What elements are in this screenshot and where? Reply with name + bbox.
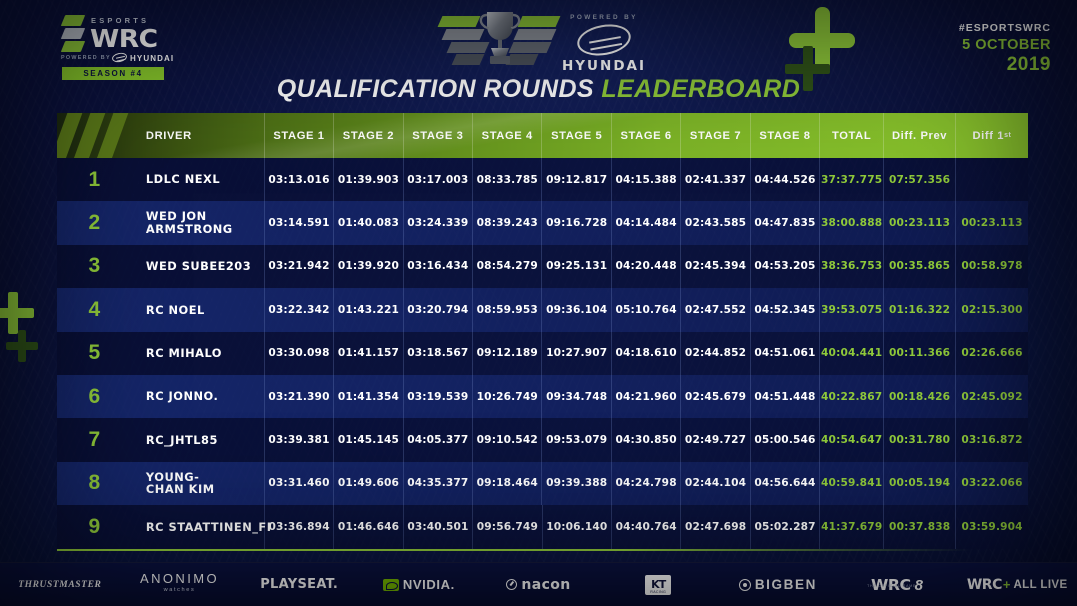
stage-7-time: 02:49.727 <box>681 418 750 461</box>
diff-prev-time: 01:16.322 <box>884 288 956 331</box>
header-bar: ESPORTS WRC POWERED BY HYUNDAI SEASON #4 <box>0 0 1077 108</box>
sponsor-bigben-label: BIGBEN <box>755 577 817 592</box>
hyundai-branding: POWERED BY HYUNDAI <box>556 14 652 68</box>
diff-first-time: 02:26.666 <box>956 332 1028 375</box>
stage-3-time: 03:40.501 <box>404 505 473 548</box>
hyundai-wordmark: HYUNDAI <box>556 58 652 74</box>
diff-prev-time: 07:57.356 <box>884 158 956 201</box>
diff-prev-time: 00:35.865 <box>884 245 956 288</box>
sponsor-all-live-label: ALL LIVE <box>1013 579 1067 591</box>
stage-6-time: 04:15.388 <box>612 158 681 201</box>
stage-5-time: 09:12.817 <box>542 158 611 201</box>
plus-decoration-left-large <box>0 292 34 334</box>
stage-2-time: 01:39.920 <box>334 245 403 288</box>
column-header-stage-2: STAGE 2 <box>334 113 403 158</box>
diff-prev-time: 00:11.366 <box>884 332 956 375</box>
event-date-day: 5 OCTOBER <box>959 37 1051 53</box>
total-time: 38:36.753 <box>820 245 884 288</box>
column-header-diff-prev: Diff. Prev <box>884 113 956 158</box>
stage-6-time: 04:18.610 <box>612 332 681 375</box>
stage-2-time: 01:43.221 <box>334 288 403 331</box>
driver-name: RC_JHTL85 <box>132 418 265 461</box>
stage-6-time: 05:10.764 <box>612 288 681 331</box>
sponsor-playseat: PLAYSEAT. <box>239 577 359 592</box>
sponsor-nvidia-label: NVIDIA. <box>403 577 455 592</box>
stage-5-time: 09:53.079 <box>542 418 611 461</box>
trophy-emblem <box>440 8 560 70</box>
stage-2-time: 01:41.354 <box>334 375 403 418</box>
diff-first-time: 02:15.300 <box>956 288 1028 331</box>
rank-number: 8 <box>57 462 132 505</box>
logo-powered-by-text: POWERED BY <box>61 55 111 61</box>
column-header-stage-3: STAGE 3 <box>404 113 473 158</box>
stage-7-time: 02:47.552 <box>681 288 750 331</box>
table-row: 7RC_JHTL8503:39.38101:45.14504:05.37709:… <box>57 418 1028 461</box>
sponsor-kt-sublabel: RACING <box>645 590 671 594</box>
sponsor-footer: THRUSTMASTER ANONIMO watches PLAYSEAT. N… <box>0 562 1077 606</box>
stage-7-time: 02:44.104 <box>681 462 750 505</box>
sponsor-playseat-label: PLAYSEAT. <box>260 577 338 592</box>
sponsor-thrustmaster: THRUSTMASTER <box>0 580 120 590</box>
stage-1-time: 03:39.381 <box>265 418 334 461</box>
rank-number: 3 <box>57 245 132 288</box>
stage-8-time: 04:47.835 <box>751 201 820 244</box>
sponsor-anonimo: ANONIMO watches <box>120 574 240 595</box>
stage-5-time: 10:06.140 <box>543 505 612 548</box>
stage-4-time: 09:18.464 <box>473 462 542 505</box>
rank-number: 9 <box>57 505 132 548</box>
diff-prev-time: 00:18.426 <box>884 375 956 418</box>
stage-4-time: 08:33.785 <box>473 158 542 201</box>
event-date-year: 2019 <box>959 54 1051 76</box>
hyundai-logo-icon <box>575 21 633 60</box>
stage-1-time: 03:31.460 <box>265 462 334 505</box>
total-time: 37:37.775 <box>820 158 884 201</box>
stage-7-time: 02:47.698 <box>681 505 750 548</box>
sponsor-wrcplus-wordmark: WRC <box>967 577 1002 593</box>
stage-2-time: 01:41.157 <box>334 332 403 375</box>
stage-3-time: 03:18.567 <box>404 332 473 375</box>
sponsor-anonimo-label: ANONIMO <box>140 574 219 584</box>
plus-decoration-left-small <box>6 330 38 362</box>
wrc-chevron-icon <box>63 15 85 57</box>
sponsor-wrcplus-plus: + <box>1003 577 1011 592</box>
stage-5-time: 09:39.388 <box>542 462 611 505</box>
column-header-stage-6: STAGE 6 <box>612 113 681 158</box>
stage-7-time: 02:44.852 <box>681 332 750 375</box>
rank-number: 1 <box>57 158 132 201</box>
table-row: 3WED SUBEE20303:21.94201:39.92003:16.434… <box>57 245 1028 288</box>
table-bottom-accent-line <box>57 549 971 551</box>
stage-3-time: 03:20.794 <box>404 288 473 331</box>
sponsor-bigben: BIGBEN <box>718 577 838 592</box>
rank-number: 2 <box>57 201 132 244</box>
leaderboard-table: DRIVER STAGE 1 STAGE 2 STAGE 3 STAGE 4 S… <box>57 113 1028 551</box>
table-body: 1LDLC NEXL03:13.01601:39.90303:17.00308:… <box>57 158 1028 549</box>
kt-racing-logo-icon: KT RACING <box>645 575 671 595</box>
stage-1-time: 03:14.591 <box>265 201 334 244</box>
stage-6-time: 04:40.764 <box>612 505 681 548</box>
stage-2-time: 01:49.606 <box>334 462 403 505</box>
stage-2-time: 01:46.646 <box>334 505 403 548</box>
table-row: 6RC JONNO.03:21.39001:41.35403:19.53910:… <box>57 375 1028 418</box>
page-title: QUALIFICATION ROUNDS LEADERBOARD <box>0 75 1077 104</box>
diff-prev-time: 00:23.113 <box>884 201 956 244</box>
column-header-diff-first-label: Diff 1 <box>972 130 1004 142</box>
stage-1-time: 03:22.342 <box>265 288 334 331</box>
total-time: 40:54.647 <box>820 418 884 461</box>
diff-first-time: 00:58.978 <box>956 245 1028 288</box>
stage-8-time: 05:02.287 <box>751 505 820 548</box>
stage-6-time: 04:30.850 <box>612 418 681 461</box>
stage-2-time: 01:40.083 <box>334 201 403 244</box>
stage-2-time: 01:39.903 <box>334 158 403 201</box>
stage-4-time: 09:10.542 <box>473 418 542 461</box>
sponsor-wrc8: WRC 8 THE OFFICIAL GAME <box>838 576 958 594</box>
nacon-circle-icon <box>506 579 517 590</box>
ordinal-suffix: st <box>1004 132 1011 139</box>
bigben-circle-icon <box>739 579 751 591</box>
column-header-stage-8: STAGE 8 <box>751 113 820 158</box>
stage-6-time: 04:20.448 <box>612 245 681 288</box>
esports-wrc-logo: ESPORTS WRC POWERED BY HYUNDAI SEASON #4 <box>57 12 165 80</box>
diff-prev-time: 00:37.838 <box>884 505 956 548</box>
table-row: 9RC STAATTINEN_FI03:36.89401:46.64603:40… <box>57 505 1028 548</box>
table-row: 2WED JONARMSTRONG03:14.59101:40.08303:24… <box>57 201 1028 244</box>
table-row: 4RC NOEL03:22.34201:43.22103:20.79408:59… <box>57 288 1028 331</box>
table-header-row: DRIVER STAGE 1 STAGE 2 STAGE 3 STAGE 4 S… <box>57 113 1028 158</box>
powered-by-label: POWERED BY <box>556 14 652 21</box>
sponsor-thrustmaster-label: THRUSTMASTER <box>18 580 101 590</box>
sponsor-wrc8-tagline: THE OFFICIAL GAME <box>867 584 916 588</box>
stage-4-time: 09:56.749 <box>473 505 542 548</box>
column-header-stage-4: STAGE 4 <box>473 113 542 158</box>
diff-first-time: 03:22.066 <box>956 462 1028 505</box>
rank-number: 5 <box>57 332 132 375</box>
column-header-stage-5: STAGE 5 <box>542 113 611 158</box>
driver-name: RC JONNO. <box>132 375 265 418</box>
stage-8-time: 04:51.061 <box>751 332 820 375</box>
diff-first-time: 00:23.113 <box>956 201 1028 244</box>
stage-1-time: 03:21.390 <box>265 375 334 418</box>
stage-5-time: 09:34.748 <box>542 375 611 418</box>
table-row: 1LDLC NEXL03:13.01601:39.90303:17.00308:… <box>57 158 1028 201</box>
column-header-diff-first: Diff 1st <box>956 113 1028 158</box>
total-time: 40:22.867 <box>820 375 884 418</box>
table-row: 5RC MIHALO03:30.09801:41.15703:18.56709:… <box>57 332 1028 375</box>
total-time: 38:00.888 <box>820 201 884 244</box>
sponsor-nacon-label: nacon <box>521 577 570 593</box>
stage-6-time: 04:14.484 <box>612 201 681 244</box>
stage-2-time: 01:45.145 <box>334 418 403 461</box>
stage-8-time: 04:51.448 <box>751 375 820 418</box>
driver-name: RC STAATTINEN_FI <box>132 505 265 548</box>
stage-6-time: 04:21.960 <box>612 375 681 418</box>
diff-first-time: 03:59.904 <box>956 505 1028 548</box>
stage-6-time: 04:24.798 <box>612 462 681 505</box>
stage-1-time: 03:21.942 <box>265 245 334 288</box>
trophy-icon <box>477 8 523 68</box>
stage-3-time: 03:19.539 <box>404 375 473 418</box>
rank-number: 4 <box>57 288 132 331</box>
driver-name: RC NOEL <box>132 288 265 331</box>
page-title-primary: QUALIFICATION ROUNDS <box>277 75 594 103</box>
hyundai-logo-icon-small <box>111 52 128 64</box>
sponsor-anonimo-lockup: ANONIMO watches <box>140 574 219 595</box>
column-header-stage-1: STAGE 1 <box>265 113 334 158</box>
stage-3-time: 04:05.377 <box>404 418 473 461</box>
rank-number: 7 <box>57 418 132 461</box>
stage-7-time: 02:43.585 <box>681 201 750 244</box>
diff-prev-time: 00:05.194 <box>884 462 956 505</box>
stage-1-time: 03:36.894 <box>265 505 334 548</box>
stage-5-time: 09:16.728 <box>542 201 611 244</box>
total-time: 40:04.441 <box>820 332 884 375</box>
table-row: 8YOUNG-CHAN KIM03:31.46001:49.60604:35.3… <box>57 462 1028 505</box>
stage-5-time: 10:27.907 <box>542 332 611 375</box>
stage-3-time: 03:17.003 <box>404 158 473 201</box>
driver-name: YOUNG-CHAN KIM <box>132 462 265 505</box>
driver-name: WED JONARMSTRONG <box>132 201 265 244</box>
stage-7-time: 02:45.679 <box>681 375 750 418</box>
logo-wrc-text: WRC <box>90 24 158 53</box>
column-header-driver: DRIVER <box>132 113 265 158</box>
event-date-block: #ESPORTSWRC 5 OCTOBER 2019 <box>959 22 1051 76</box>
stage-8-time: 04:53.205 <box>751 245 820 288</box>
sponsor-kt-racing: KT RACING <box>598 575 718 595</box>
stage-8-time: 04:52.345 <box>751 288 820 331</box>
stage-3-time: 03:24.339 <box>404 201 473 244</box>
stage-3-time: 04:35.377 <box>404 462 473 505</box>
stage-4-time: 09:12.189 <box>473 332 542 375</box>
stage-5-time: 09:36.104 <box>542 288 611 331</box>
driver-name: WED SUBEE203 <box>132 245 265 288</box>
sponsor-anonimo-sublabel: watches <box>140 585 219 595</box>
stage-7-time: 02:45.394 <box>681 245 750 288</box>
stage-4-time: 10:26.749 <box>473 375 542 418</box>
total-time: 40:59.841 <box>820 462 884 505</box>
column-header-total: TOTAL <box>820 113 884 158</box>
nvidia-eye-icon <box>383 579 399 591</box>
stage-8-time: 04:56.644 <box>751 462 820 505</box>
stage-3-time: 03:16.434 <box>404 245 473 288</box>
stage-8-time: 05:00.546 <box>751 418 820 461</box>
stage-1-time: 03:13.016 <box>265 158 334 201</box>
driver-name: RC MIHALO <box>132 332 265 375</box>
diff-first-time: 02:45.092 <box>956 375 1028 418</box>
diff-first-time <box>956 158 1028 201</box>
column-header-stage-7: STAGE 7 <box>681 113 750 158</box>
sponsor-nacon: nacon <box>479 577 599 593</box>
driver-name: LDLC NEXL <box>132 158 265 201</box>
stage-4-time: 08:54.279 <box>473 245 542 288</box>
logo-hyundai-text: HYUNDAI <box>130 54 174 63</box>
event-hashtag: #ESPORTSWRC <box>959 22 1051 34</box>
total-time: 39:53.075 <box>820 288 884 331</box>
stage-4-time: 08:59.953 <box>473 288 542 331</box>
total-time: 41:37.679 <box>820 505 884 548</box>
page-title-accent: LEADERBOARD <box>601 75 800 103</box>
rank-number: 6 <box>57 375 132 418</box>
sponsor-wrc-all-live: WRC + ALL LIVE <box>957 577 1077 593</box>
stage-5-time: 09:25.131 <box>542 245 611 288</box>
sponsor-nvidia: NVIDIA. <box>359 577 479 592</box>
stage-7-time: 02:41.337 <box>681 158 750 201</box>
column-header-rank <box>57 113 132 158</box>
stage-1-time: 03:30.098 <box>265 332 334 375</box>
stage-4-time: 08:39.243 <box>473 201 542 244</box>
diff-first-time: 03:16.872 <box>956 418 1028 461</box>
diff-prev-time: 00:31.780 <box>884 418 956 461</box>
stage-8-time: 04:44.526 <box>751 158 820 201</box>
